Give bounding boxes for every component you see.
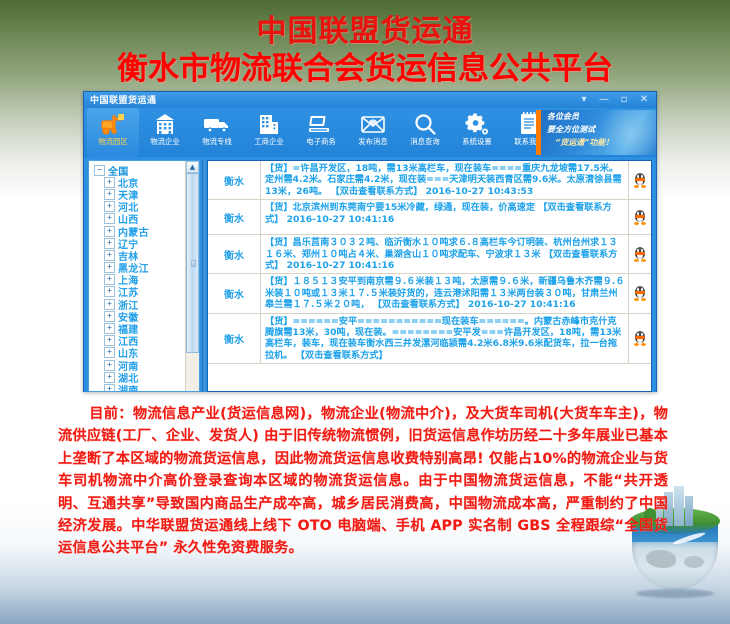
toolbar-label: 发布消息 bbox=[358, 137, 387, 146]
toolbar-item-system-settings[interactable]: 系统设置 bbox=[451, 108, 503, 157]
tree-node-13[interactable]: +江西 bbox=[92, 335, 186, 347]
table-row[interactable]: 衡水【货】=许昌开发区，18吨，需13米高栏车，现在装车====重庆九龙坡需17… bbox=[208, 161, 651, 200]
expand-toggle-icon[interactable]: + bbox=[104, 262, 115, 273]
expand-toggle-icon[interactable]: + bbox=[104, 384, 115, 391]
gear-icon bbox=[464, 110, 490, 137]
page-title: 中国联盟货运通 衡水市物流联合会货运信息公共平台 bbox=[0, 14, 730, 88]
qq-penguin-icon bbox=[634, 173, 646, 188]
banner-shine bbox=[596, 110, 656, 155]
pane-splitter[interactable] bbox=[200, 160, 207, 392]
expand-toggle-icon[interactable]: + bbox=[104, 177, 115, 188]
row-message-text: 【货】======安平===========现在装车======。内蒙古赤峰市克… bbox=[265, 316, 621, 361]
qq-penguin-icon bbox=[634, 286, 646, 301]
tree-node-label: 湖南 bbox=[118, 382, 139, 391]
qq-contact-button[interactable] bbox=[628, 274, 651, 312]
qq-contact-button[interactable] bbox=[628, 235, 651, 273]
toolbar-item-logistics-company[interactable]: 物流企业 bbox=[139, 108, 191, 157]
tree-node-5[interactable]: +辽宁 bbox=[92, 237, 186, 249]
toolbar-item-ecommerce[interactable]: 电子商务 bbox=[295, 108, 347, 157]
region-tree-panel: − 全国 +北京+天津+河北+山西+内蒙古+辽宁+吉林+黑龙江+上海+江苏+浙江… bbox=[88, 160, 200, 392]
table-row[interactable]: 衡水【货】======安平===========现在装车======。内蒙古赤峰… bbox=[208, 314, 651, 365]
expand-toggle-icon[interactable]: + bbox=[104, 311, 115, 322]
row-message: 【货】=许昌开发区，18吨，需13米高栏车，现在装车====重庆九龙坡需17.5… bbox=[261, 161, 628, 199]
expand-toggle-icon[interactable]: + bbox=[104, 250, 115, 261]
toolbar-item-publish-message[interactable]: 发布消息 bbox=[347, 108, 399, 157]
qq-penguin-icon bbox=[634, 247, 646, 262]
row-city: 衡水 bbox=[208, 235, 261, 273]
headline-line-2: 衡水市物流联合会货运信息公共平台 bbox=[0, 50, 730, 88]
search-icon bbox=[413, 110, 437, 137]
tree-node-12[interactable]: +福建 bbox=[92, 322, 186, 334]
window-title-bar[interactable]: 中国联盟货运通 ▾ — ▫ ✕ bbox=[84, 92, 656, 108]
tree-node-9[interactable]: +江苏 bbox=[92, 286, 186, 298]
toolbar-label: 物流园区 bbox=[98, 137, 127, 146]
qq-penguin-icon bbox=[634, 331, 646, 346]
expand-toggle-icon[interactable]: + bbox=[104, 213, 115, 224]
maximize-button[interactable]: ▫ bbox=[614, 92, 634, 107]
row-city: 衡水 bbox=[208, 200, 261, 234]
toolbar-item-logistics-line[interactable]: 物流专线 bbox=[191, 108, 243, 157]
toolbar-label: 系统设置 bbox=[462, 137, 491, 146]
table-row[interactable]: 衡水【货】昌乐莒南３０３２吨、临沂衡水１０吨求６.８高栏车今订明装、杭州台州求１… bbox=[208, 235, 651, 274]
expand-toggle-icon[interactable]: + bbox=[104, 226, 115, 237]
message-list: 衡水【货】=许昌开发区，18吨，需13米高栏车，现在装车====重庆九龙坡需17… bbox=[208, 161, 651, 364]
expand-toggle-icon[interactable]: + bbox=[104, 360, 115, 371]
toolbar-item-logistics-park[interactable]: 物流园区 bbox=[87, 108, 139, 157]
toolbar-label: 工商企业 bbox=[254, 137, 283, 146]
scrollbar-thumb[interactable] bbox=[186, 173, 199, 353]
toolbar-label: 电子商务 bbox=[306, 137, 335, 146]
row-city: 衡水 bbox=[208, 314, 261, 364]
splitter-bar bbox=[202, 160, 205, 392]
scrollbar-grip bbox=[191, 260, 196, 267]
row-timestamp: 2016-10-27 10:41:16 bbox=[287, 260, 395, 271]
window-content: − 全国 +北京+天津+河北+山西+内蒙古+辽宁+吉林+黑龙江+上海+江苏+浙江… bbox=[84, 157, 656, 392]
tree-node-0[interactable]: +北京 bbox=[92, 176, 186, 188]
tree-node-8[interactable]: +上海 bbox=[92, 274, 186, 286]
scroll-up-arrow-icon[interactable]: ▲ bbox=[186, 161, 199, 173]
minimize-button[interactable]: — bbox=[594, 92, 614, 107]
envelope-icon bbox=[360, 110, 386, 137]
headline-line-1: 中国联盟货运通 bbox=[0, 14, 730, 50]
toolbar-label: 物流企业 bbox=[150, 137, 179, 146]
toolbar-item-industrial-company[interactable]: 工商企业 bbox=[243, 108, 295, 157]
row-city: 衡水 bbox=[208, 161, 261, 199]
tree-node-14[interactable]: +山东 bbox=[92, 347, 186, 359]
tree-node-2[interactable]: +河北 bbox=[92, 201, 186, 213]
application-window: 中国联盟货运通 ▾ — ▫ ✕ 物流园区 bbox=[83, 91, 657, 392]
tree-node-4[interactable]: +内蒙古 bbox=[92, 225, 186, 237]
expand-toggle-icon[interactable]: + bbox=[104, 201, 115, 212]
row-timestamp: 2016-10-27 10:41:16 bbox=[468, 299, 576, 310]
row-message: 【货】======安平===========现在装车======。内蒙古赤峰市克… bbox=[261, 314, 628, 364]
forklift-icon bbox=[100, 110, 126, 137]
truck-icon bbox=[203, 110, 231, 137]
skyline-building-3 bbox=[685, 496, 693, 526]
qq-contact-button[interactable] bbox=[628, 314, 651, 364]
table-row[interactable]: 衡水【货】１８５１３安平到南京需９.６米装１３吨，太原需９.６米，新疆乌鲁木齐需… bbox=[208, 274, 651, 313]
expand-toggle-icon[interactable]: + bbox=[104, 299, 115, 310]
member-notice-banner[interactable]: 各位会员 要全方位测试 “货运通”功能！ bbox=[536, 110, 656, 155]
expand-toggle-icon[interactable]: + bbox=[104, 286, 115, 297]
table-row[interactable]: 衡水【货】北京滨州到东莞南宁要15米冷藏，绿通，现在装，价高速定 【双击查看联系… bbox=[208, 200, 651, 235]
tree-scrollbar[interactable]: ▲ bbox=[185, 161, 199, 391]
skyline-building-2 bbox=[674, 486, 684, 526]
expand-toggle-icon[interactable]: + bbox=[104, 189, 115, 200]
row-message: 【货】昌乐莒南３０３２吨、临沂衡水１０吨求６.８高栏车今订明装、杭州台州求１３１… bbox=[261, 235, 628, 273]
region-tree: − 全国 +北京+天津+河北+山西+内蒙古+辽宁+吉林+黑龙江+上海+江苏+浙江… bbox=[89, 161, 186, 391]
tree-node-17[interactable]: +湖南 bbox=[92, 383, 186, 391]
row-message: 【货】１８５１３安平到南京需９.６米装１３吨，太原需９.６米，新疆乌鲁木齐需９.… bbox=[261, 274, 628, 312]
expand-toggle-icon[interactable]: + bbox=[104, 238, 115, 249]
tree-node-16[interactable]: +湖北 bbox=[92, 371, 186, 383]
tree-children: +北京+天津+河北+山西+内蒙古+辽宁+吉林+黑龙江+上海+江苏+浙江+安徽+福… bbox=[92, 176, 186, 391]
main-toolbar: 物流园区 物流企业 物流专线 bbox=[84, 108, 656, 157]
toolbar-label: 物流专线 bbox=[202, 137, 231, 146]
menu-dropdown-button[interactable]: ▾ bbox=[574, 92, 594, 107]
row-message: 【货】北京滨州到东莞南宁要15米冷藏，绿通，现在装，价高速定 【双击查看联系方式… bbox=[261, 200, 628, 234]
globe-shadow bbox=[636, 589, 714, 598]
expand-toggle-icon[interactable]: + bbox=[104, 335, 115, 346]
window-title: 中国联盟货运通 bbox=[90, 93, 157, 106]
expand-toggle-icon[interactable]: + bbox=[104, 372, 115, 383]
toolbar-item-message-query[interactable]: 消息查询 bbox=[399, 108, 451, 157]
description-paragraph: 目前：物流信息产业(货运信息网)，物流企业(物流中介)，及大货车司机(大货车车主… bbox=[58, 403, 668, 560]
message-list-panel[interactable]: 衡水【货】=许昌开发区，18吨，需13米高栏车，现在装车====重庆九龙坡需17… bbox=[207, 160, 652, 392]
ecommerce-icon bbox=[307, 110, 335, 137]
expand-toggle-icon[interactable]: + bbox=[104, 323, 115, 334]
building-icon bbox=[153, 110, 177, 137]
tree-node-7[interactable]: +黑龙江 bbox=[92, 262, 186, 274]
expand-toggle-icon[interactable]: + bbox=[104, 274, 115, 285]
row-timestamp: 2016-10-27 10:43:53 bbox=[426, 186, 534, 197]
collapse-toggle-icon[interactable]: − bbox=[94, 165, 105, 176]
close-button[interactable]: ✕ bbox=[634, 92, 654, 107]
qq-penguin-icon bbox=[634, 210, 646, 225]
tree-node-1[interactable]: +天津 bbox=[92, 188, 186, 200]
tree-node-root[interactable]: − 全国 bbox=[92, 164, 186, 176]
qq-contact-button[interactable] bbox=[628, 200, 651, 234]
row-city: 衡水 bbox=[208, 274, 261, 312]
expand-toggle-icon[interactable]: + bbox=[104, 347, 115, 358]
tree-node-10[interactable]: +浙江 bbox=[92, 298, 186, 310]
office-icon bbox=[257, 110, 281, 137]
qq-contact-button[interactable] bbox=[628, 161, 651, 199]
tree-node-15[interactable]: +河南 bbox=[92, 359, 186, 371]
tree-node-11[interactable]: +安徽 bbox=[92, 310, 186, 322]
toolbar-label: 消息查询 bbox=[410, 137, 439, 146]
row-timestamp: 2016-10-27 10:41:16 bbox=[287, 214, 395, 225]
globe-landmass-2 bbox=[684, 556, 704, 568]
window-controls: ▾ — ▫ ✕ bbox=[574, 92, 654, 107]
